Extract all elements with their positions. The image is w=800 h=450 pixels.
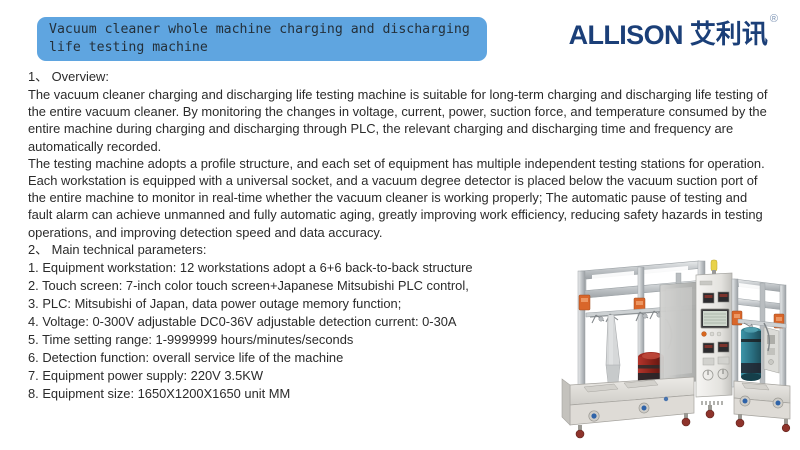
accessory-panel-right xyxy=(764,327,779,373)
base-platform-left xyxy=(562,377,694,438)
vacuum-unit-teal xyxy=(741,327,761,381)
company-logo: ALLISON 艾利讯 ® xyxy=(569,20,778,50)
control-cabinet xyxy=(696,260,732,405)
overview-paragraph-1: The vacuum cleaner charging and discharg… xyxy=(28,86,772,155)
overview-paragraph-2: The testing machine adopts a profile str… xyxy=(28,155,772,241)
caster-wheel xyxy=(576,425,584,438)
base-platform-right xyxy=(734,381,790,432)
product-photo xyxy=(548,253,800,448)
caster-wheel xyxy=(782,419,790,432)
product-title-banner: Vacuum cleaner whole machine charging an… xyxy=(37,17,487,61)
product-title: Vacuum cleaner whole machine charging an… xyxy=(49,21,477,56)
logo-wordmark-en: ALLISON xyxy=(569,20,683,50)
caster-wheel xyxy=(682,413,690,426)
caster-wheel xyxy=(706,405,714,418)
registered-trademark-icon: ® xyxy=(770,14,778,25)
section-heading-overview: 1、 Overview: xyxy=(28,68,772,86)
page-header: Vacuum cleaner whole machine charging an… xyxy=(0,0,800,68)
indicator-lamp xyxy=(717,332,721,336)
caster-wheel xyxy=(736,414,744,427)
logo-wordmark-cn: 艾利讯 xyxy=(690,20,768,50)
center-enclosure xyxy=(660,282,698,384)
indicator-lamp xyxy=(702,332,707,337)
beacon-light xyxy=(711,260,717,271)
vacuum-wand-left xyxy=(606,315,620,383)
indicator-lamp xyxy=(710,332,714,336)
